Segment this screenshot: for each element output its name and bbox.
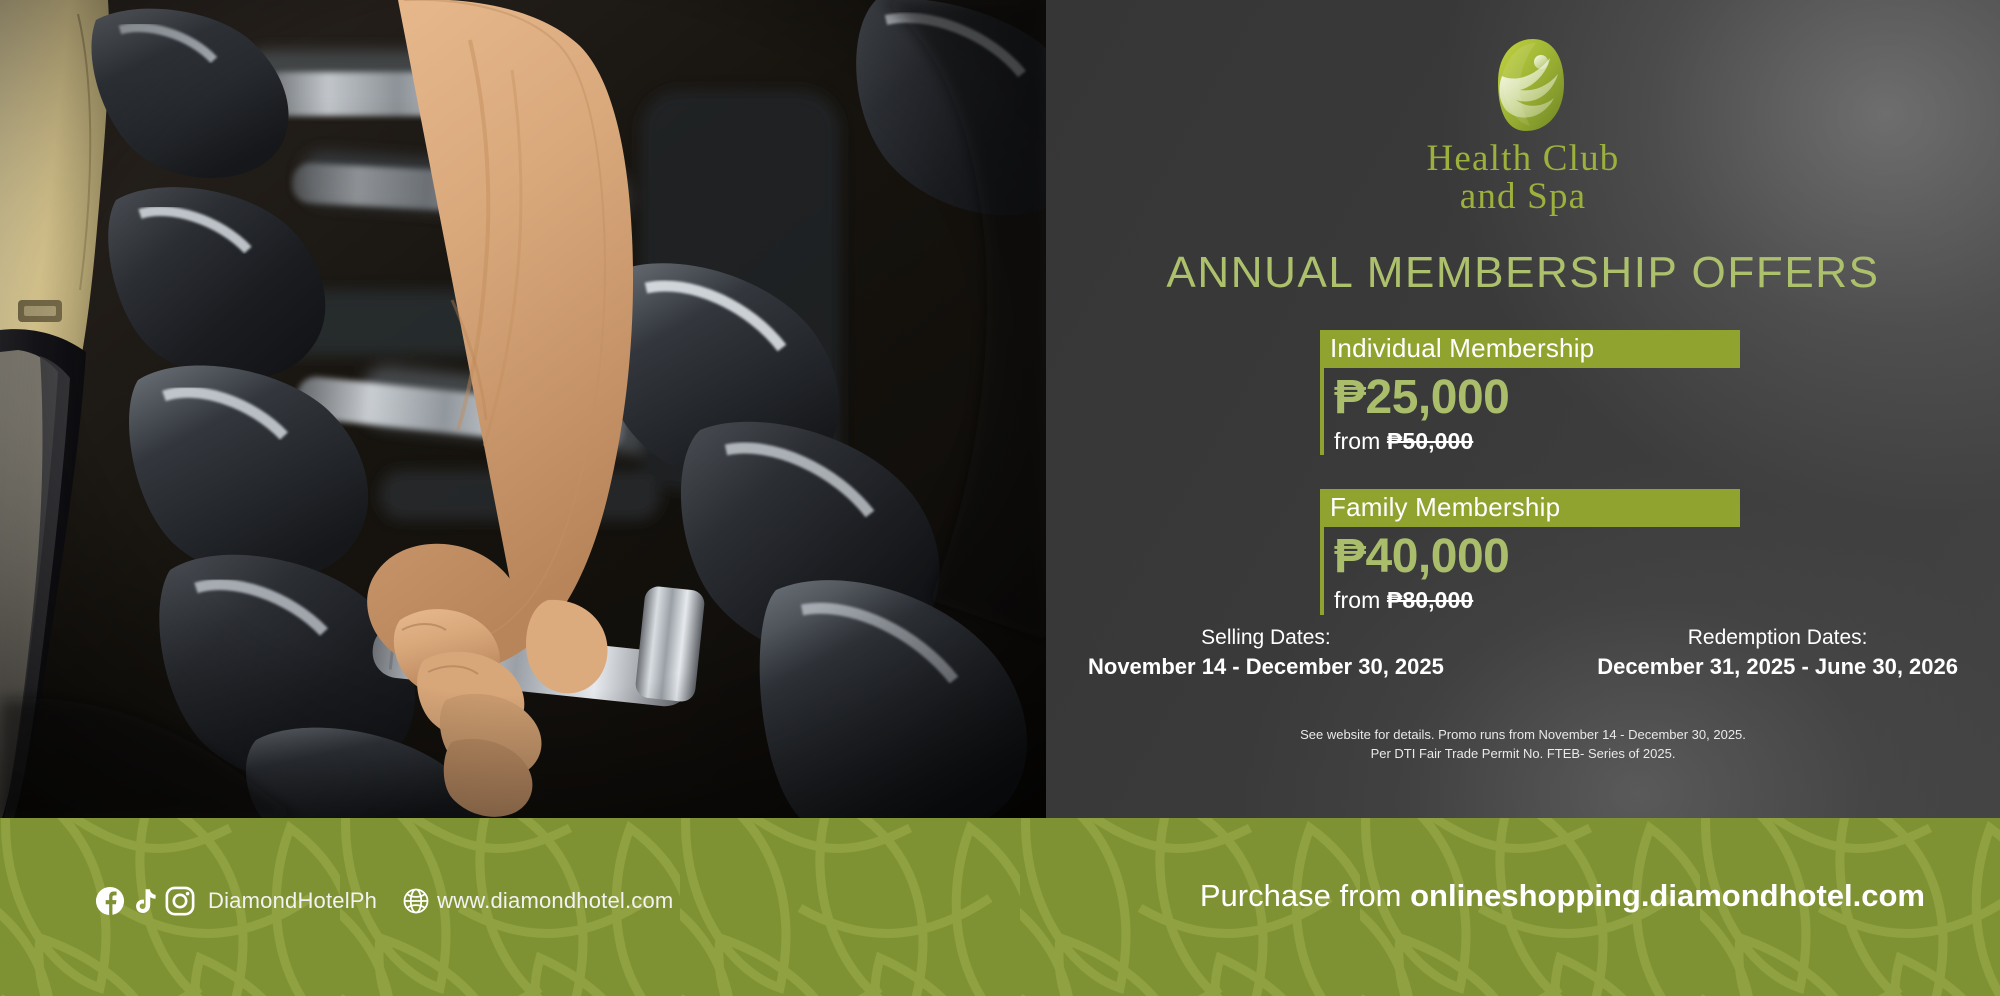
page-title: ANNUAL MEMBERSHIP OFFERS: [1046, 248, 2000, 298]
offer-original-price-row: from ₱80,000: [1334, 586, 1740, 615]
offer-individual: Individual Membership ₱25,000 from ₱50,0…: [1320, 330, 1740, 455]
dates-row: Selling Dates: November 14 - December 30…: [1046, 624, 2000, 681]
website-link[interactable]: www.diamondhotel.com: [403, 888, 673, 914]
brand-logo: Health Club and Spa: [1046, 36, 2000, 215]
social-links-row: DiamondHotelPh www.diamondhotel.com: [95, 886, 673, 916]
offer-accent-bar: [1320, 527, 1324, 614]
health-club-leaf-figure-logo: [1478, 36, 1568, 134]
offer-body: ₱40,000 from ₱80,000: [1320, 527, 1740, 614]
offer-family: Family Membership ₱40,000 from ₱80,000: [1320, 489, 1740, 614]
promo-poster: Health Club and Spa ANNUAL MEMBERSHIP OF…: [0, 0, 2000, 996]
selling-dates-label: Selling Dates:: [1088, 624, 1444, 652]
redemption-dates-label: Redemption Dates:: [1597, 624, 1958, 652]
offer-title: Individual Membership: [1320, 330, 1740, 368]
offer-accent-bar: [1320, 368, 1324, 455]
gym-photo: [0, 0, 1046, 818]
brand-name-line2: and Spa: [1046, 178, 2000, 216]
redemption-dates: Redemption Dates: December 31, 2025 - Ju…: [1597, 624, 1958, 681]
from-label: from: [1334, 587, 1380, 613]
offers-list: Individual Membership ₱25,000 from ₱50,0…: [1320, 330, 1740, 615]
website-url: www.diamondhotel.com: [437, 888, 673, 914]
footer-band: DiamondHotelPh www.diamondhotel.com Purc…: [0, 818, 2000, 996]
facebook-icon[interactable]: [95, 886, 125, 916]
tiktok-icon[interactable]: [130, 886, 160, 916]
offer-price: ₱40,000: [1334, 529, 1740, 586]
globe-icon: [403, 888, 429, 914]
original-price: ₱50,000: [1387, 428, 1473, 454]
instagram-icon[interactable]: [165, 886, 195, 916]
offer-body: ₱25,000 from ₱50,000: [1320, 368, 1740, 455]
original-price: ₱80,000: [1387, 587, 1473, 613]
selling-dates-value: November 14 - December 30, 2025: [1088, 652, 1444, 681]
from-label: from: [1334, 428, 1380, 454]
offer-title: Family Membership: [1320, 489, 1740, 527]
offer-price: ₱25,000: [1334, 370, 1740, 427]
fine-print-line1: See website for details. Promo runs from…: [1046, 726, 2000, 745]
purchase-prefix: Purchase from: [1200, 878, 1410, 913]
offer-original-price-row: from ₱50,000: [1334, 427, 1740, 456]
purchase-cta: Purchase from onlineshopping.diamondhote…: [1200, 878, 1925, 914]
offer-panel: Health Club and Spa ANNUAL MEMBERSHIP OF…: [1046, 0, 2000, 818]
purchase-url[interactable]: onlineshopping.diamondhotel.com: [1410, 878, 1925, 913]
redemption-dates-value: December 31, 2025 - June 30, 2026: [1597, 652, 1958, 681]
fine-print-line2: Per DTI Fair Trade Permit No. FTEB- Seri…: [1046, 745, 2000, 764]
selling-dates: Selling Dates: November 14 - December 30…: [1088, 624, 1444, 681]
brand-name-line1: Health Club: [1046, 140, 2000, 178]
social-handle[interactable]: DiamondHotelPh: [208, 888, 377, 914]
fine-print: See website for details. Promo runs from…: [1046, 726, 2000, 764]
